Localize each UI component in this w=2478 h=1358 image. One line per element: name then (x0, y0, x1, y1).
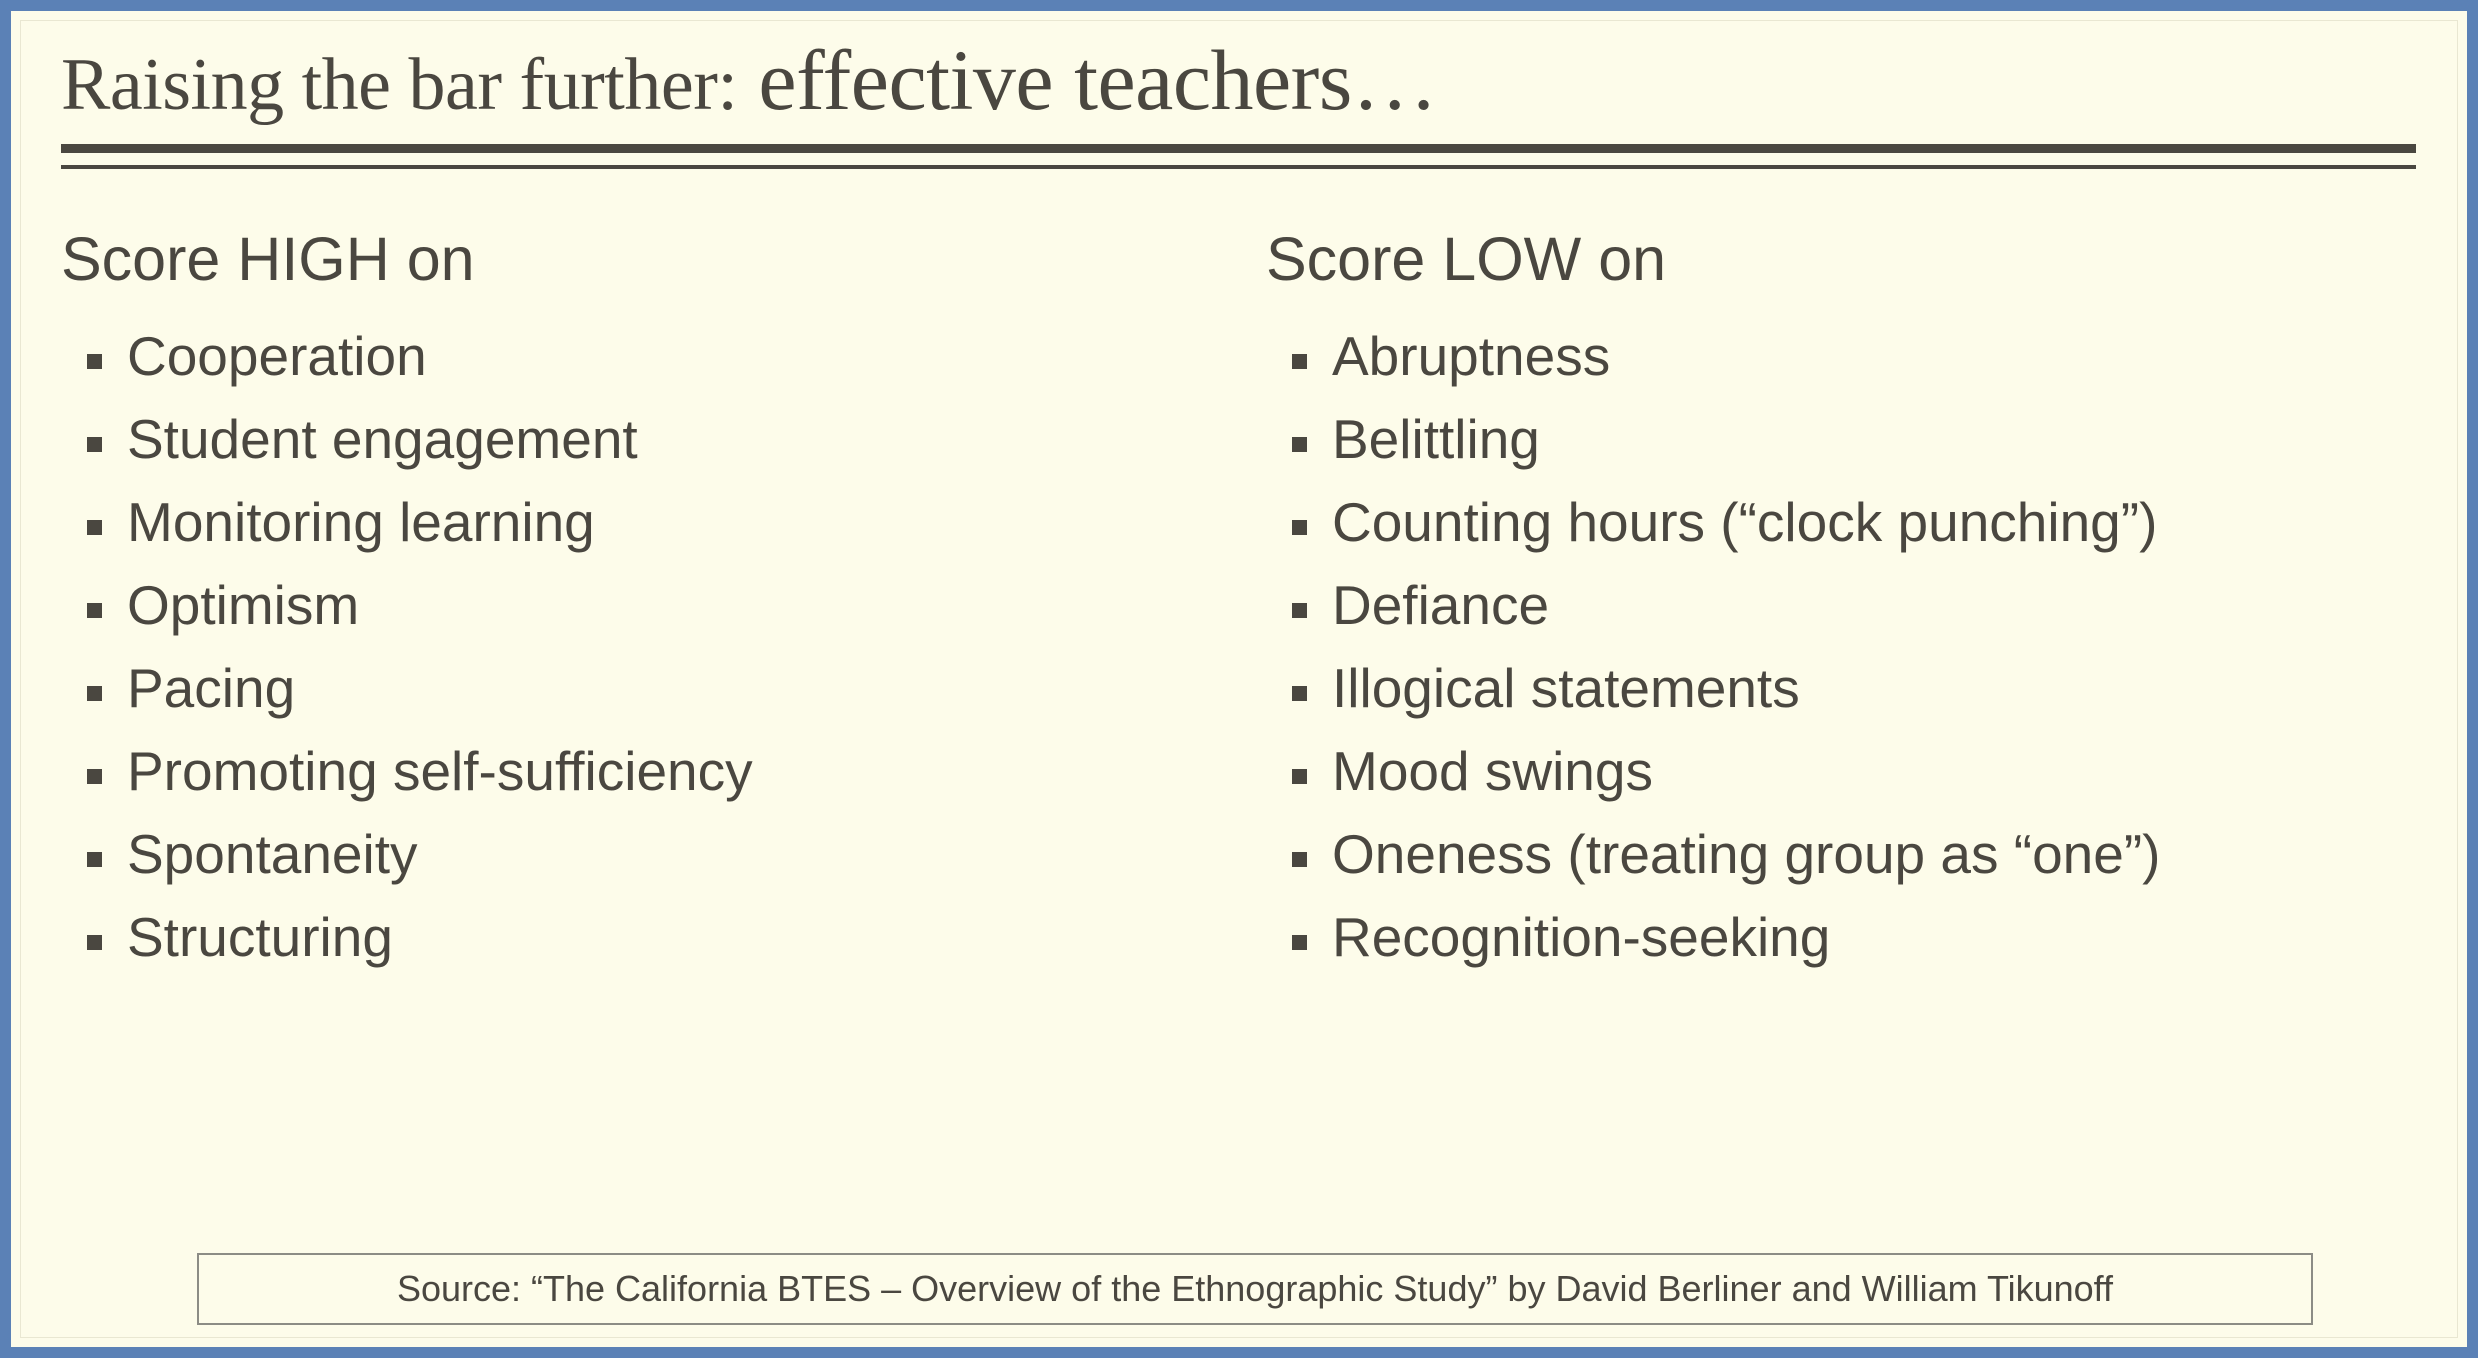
slide-frame: Raising the bar further: effective teach… (0, 0, 2478, 1358)
square-bullet-icon (87, 852, 102, 867)
column-score-low: Score LOW on Abruptness Belittling Count… (1266, 229, 2446, 992)
content-columns: Score HIGH on Cooperation Student engage… (21, 229, 2457, 1229)
list-item: Counting hours (“clock punching”) (1266, 494, 2446, 552)
slide-title-block: Raising the bar further: effective teach… (61, 25, 2415, 175)
square-bullet-icon (1292, 686, 1307, 701)
list-item: Oneness (treating group as “one”) (1266, 826, 2446, 884)
list-item-label: Optimism (127, 577, 359, 635)
list-item: Abruptness (1266, 328, 2446, 386)
list-item: Belittling (1266, 411, 2446, 469)
list-item-label: Promoting self-sufficiency (127, 743, 753, 801)
square-bullet-icon (1292, 437, 1307, 452)
list-item-label: Belittling (1332, 411, 1540, 469)
square-bullet-icon (1292, 603, 1307, 618)
list-item-label: Spontaneity (127, 826, 418, 884)
column-score-high: Score HIGH on Cooperation Student engage… (61, 229, 1211, 992)
column-heading-high: Score HIGH on (61, 229, 1211, 290)
page-title: Raising the bar further: effective teach… (61, 25, 2415, 123)
list-item: Illogical statements (1266, 660, 2446, 718)
title-rule-thin (61, 165, 2416, 169)
square-bullet-icon (1292, 354, 1307, 369)
page-title-emphasis: effective teachers… (737, 32, 1437, 128)
square-bullet-icon (1292, 852, 1307, 867)
list-item: Promoting self-sufficiency (61, 743, 1211, 801)
square-bullet-icon (87, 935, 102, 950)
bullet-list-high: Cooperation Student engagement Monitorin… (61, 328, 1211, 967)
square-bullet-icon (87, 603, 102, 618)
list-item: Student engagement (61, 411, 1211, 469)
list-item-label: Cooperation (127, 328, 427, 386)
square-bullet-icon (1292, 935, 1307, 950)
list-item: Spontaneity (61, 826, 1211, 884)
page-title-primary: Raising the bar further: (61, 44, 737, 126)
slide-canvas: Raising the bar further: effective teach… (20, 20, 2458, 1338)
list-item-label: Pacing (127, 660, 295, 718)
list-item: Monitoring learning (61, 494, 1211, 552)
list-item: Cooperation (61, 328, 1211, 386)
column-heading-low: Score LOW on (1266, 229, 2446, 290)
list-item: Pacing (61, 660, 1211, 718)
square-bullet-icon (87, 686, 102, 701)
list-item-label: Abruptness (1332, 328, 1610, 386)
list-item-label: Monitoring learning (127, 494, 595, 552)
square-bullet-icon (87, 354, 102, 369)
bullet-list-low: Abruptness Belittling Counting hours (“c… (1266, 328, 2446, 967)
list-item: Recognition-seeking (1266, 909, 2446, 967)
list-item-label: Counting hours (“clock punching”) (1332, 494, 2157, 552)
list-item-label: Mood swings (1332, 743, 1653, 801)
list-item-label: Structuring (127, 909, 393, 967)
title-rule-thick (61, 144, 2416, 153)
square-bullet-icon (1292, 520, 1307, 535)
list-item-label: Defiance (1332, 577, 1549, 635)
list-item-label: Student engagement (127, 411, 638, 469)
source-citation-box: Source: “The California BTES – Overview … (197, 1253, 2313, 1325)
list-item: Structuring (61, 909, 1211, 967)
square-bullet-icon (87, 437, 102, 452)
list-item-label: Recognition-seeking (1332, 909, 1830, 967)
square-bullet-icon (1292, 769, 1307, 784)
list-item-label: Illogical statements (1332, 660, 1800, 718)
list-item: Mood swings (1266, 743, 2446, 801)
square-bullet-icon (87, 520, 102, 535)
square-bullet-icon (87, 769, 102, 784)
list-item: Optimism (61, 577, 1211, 635)
list-item: Defiance (1266, 577, 2446, 635)
source-citation-text: Source: “The California BTES – Overview … (397, 1271, 2113, 1307)
list-item-label: Oneness (treating group as “one”) (1332, 826, 2161, 884)
